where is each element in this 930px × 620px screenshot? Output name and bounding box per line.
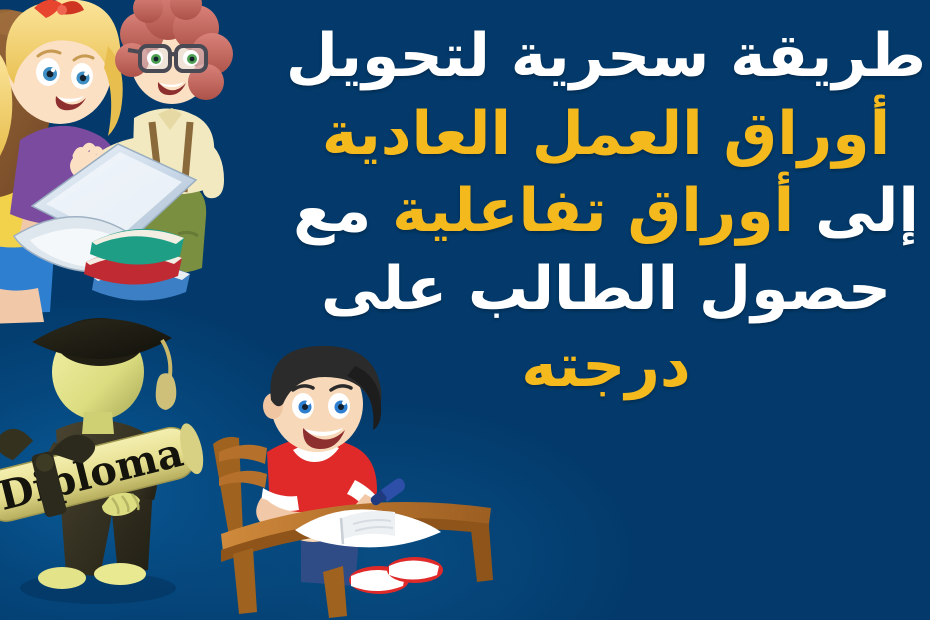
headline-line-2: أوراق العمل العادية	[226, 106, 930, 164]
headline-line-3-highlight: أوراق تفاعلية	[392, 176, 794, 246]
poster-canvas: Diploma	[0, 0, 930, 620]
headline-line-1: طريقة سحرية لتحويل	[226, 28, 930, 86]
headline-line-3: إلى أوراق تفاعلية مع	[226, 183, 930, 241]
headline-line-3-prefix: إلى	[815, 176, 919, 246]
headline-line-5: درجته	[226, 338, 930, 396]
graduate-figure-with-diploma: Diploma	[0, 300, 234, 620]
headline-line-3-suffix: مع	[293, 176, 371, 246]
books-stack	[84, 229, 190, 301]
headline-line-4: حصول الطالب على	[226, 261, 930, 319]
headline-block: طريقة سحرية لتحويل أوراق العمل العادية إ…	[226, 28, 930, 416]
